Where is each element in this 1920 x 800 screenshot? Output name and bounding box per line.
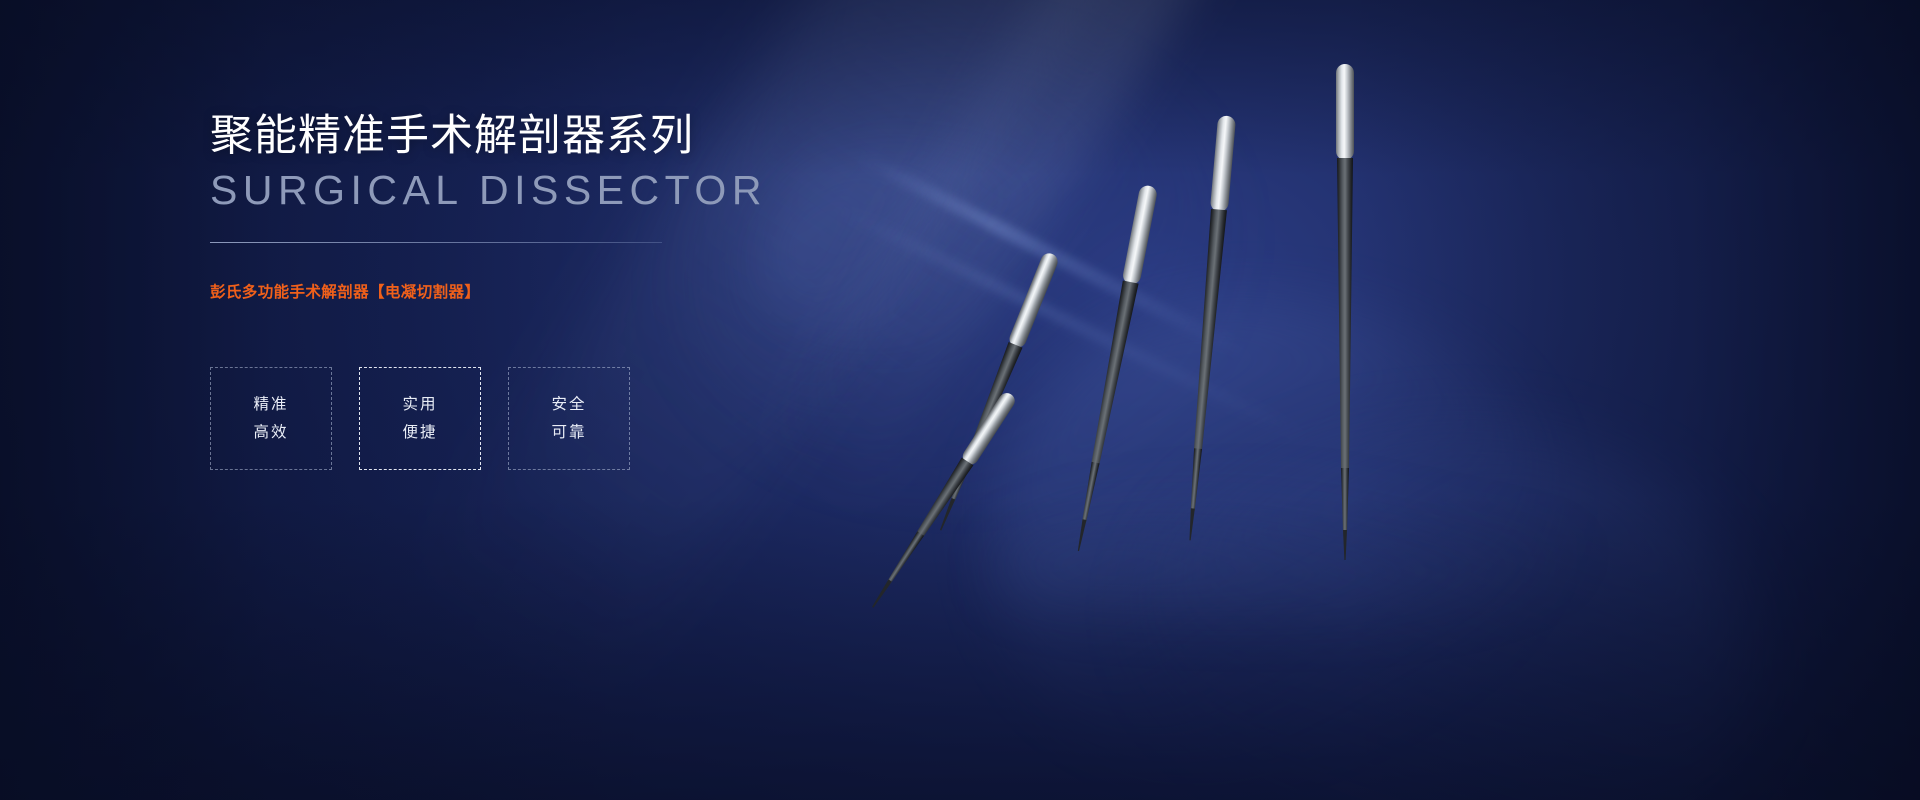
feature-badge-practical: 实用 便捷 [359, 367, 481, 470]
hero-text-block: 聚能精准手术解剖器系列 SURGICAL DISSECTOR 彭氏多功能手术解剖… [210, 112, 730, 302]
feature-badge-precision-line1: 精准 [253, 397, 288, 413]
feature-badge-safety: 安全 可靠 [508, 367, 630, 470]
feature-badge-precision-line2: 高效 [253, 425, 288, 441]
page-title: 聚能精准手术解剖器系列 [210, 112, 730, 161]
feature-badge-practical-line2: 便捷 [402, 425, 437, 441]
page-subtitle-en: SURGICAL DISSECTOR [210, 169, 730, 212]
title-divider [210, 242, 662, 243]
hero-banner: 聚能精准手术解剖器系列 SURGICAL DISSECTOR 彭氏多功能手术解剖… [0, 0, 1920, 800]
feature-badge-practical-line1: 实用 [402, 397, 437, 413]
feature-badge-precision: 精准 高效 [210, 367, 332, 470]
feature-badge-group: 精准 高效 实用 便捷 安全 可靠 [210, 367, 630, 470]
product-name-label: 彭氏多功能手术解剖器【电凝切割器】 [210, 280, 730, 302]
feature-badge-safety-line2: 可靠 [551, 425, 586, 441]
feature-badge-safety-line1: 安全 [551, 397, 586, 413]
